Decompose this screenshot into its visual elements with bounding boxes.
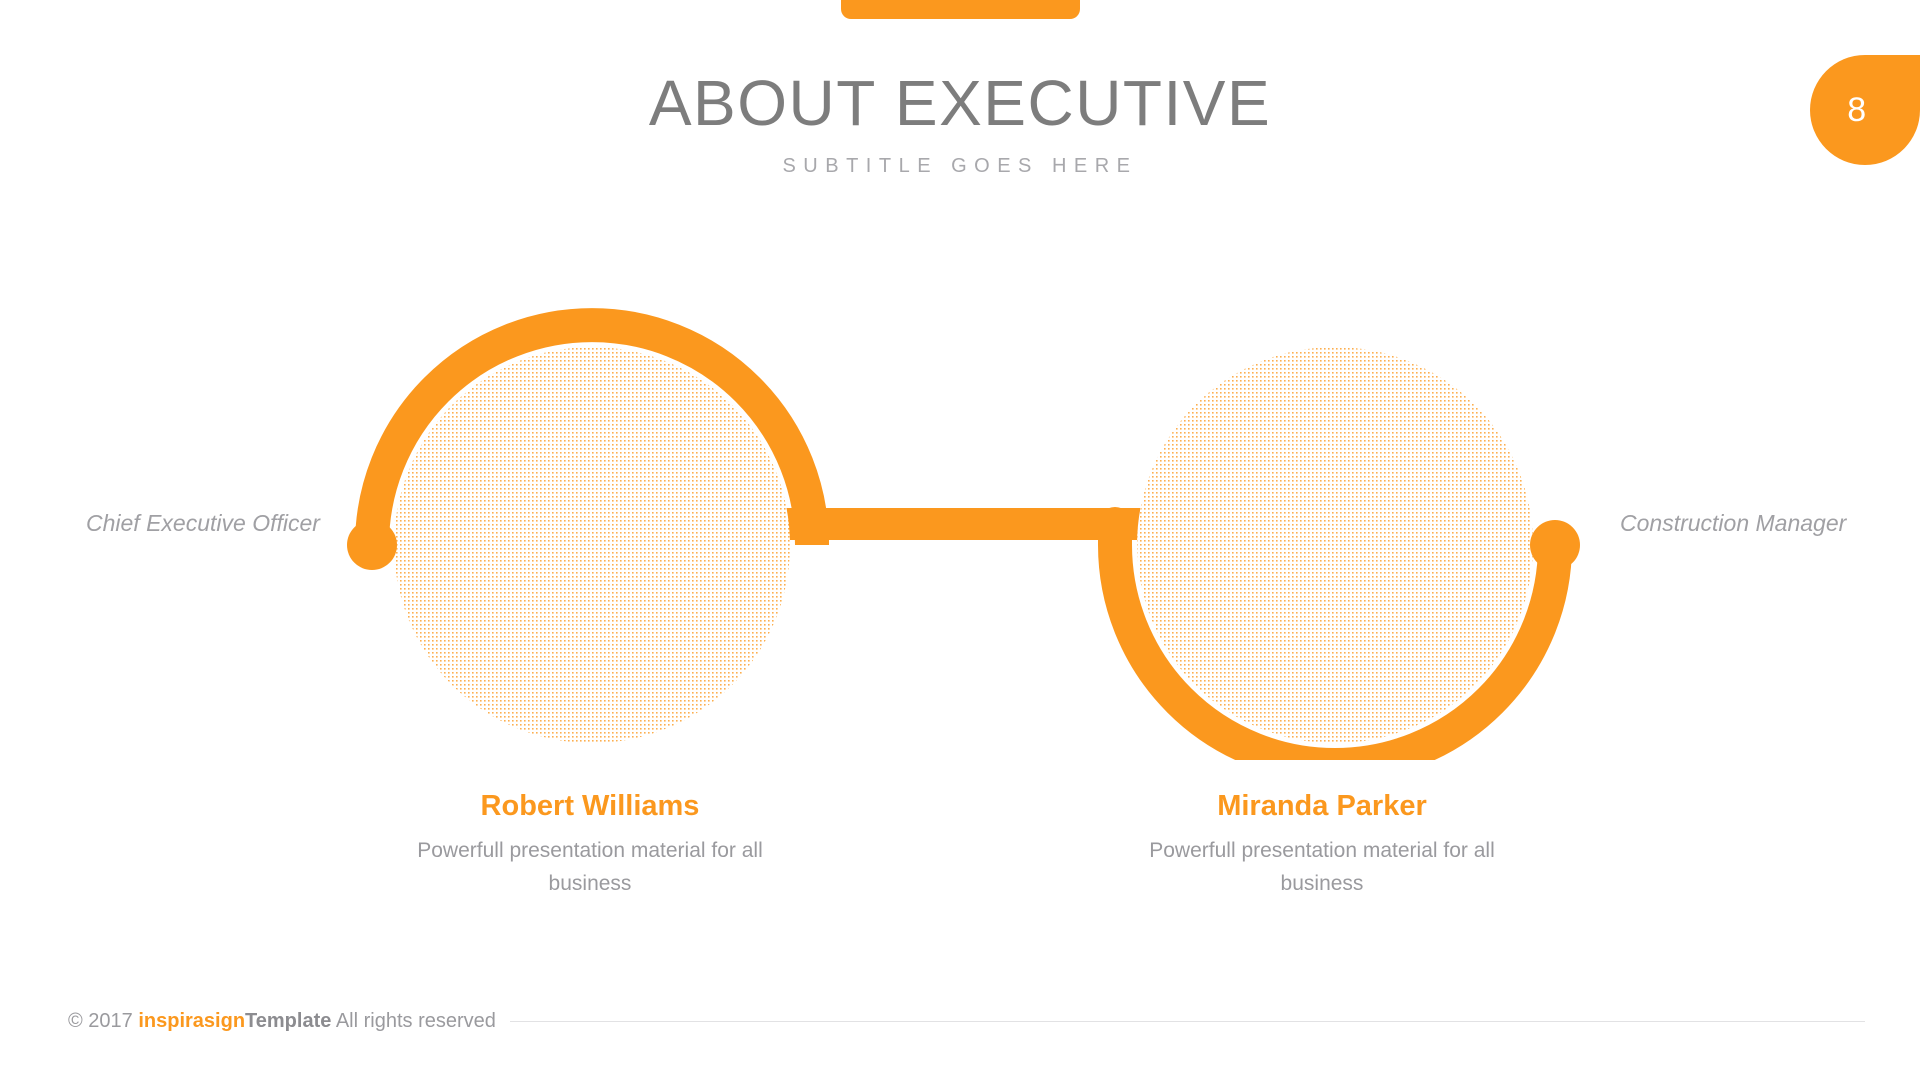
- person-name-right: Miranda Parker: [1092, 790, 1552, 823]
- person-description-right: Powerfull presentation material for all …: [1092, 835, 1552, 900]
- person-name-left: Robert Williams: [360, 790, 820, 823]
- footer-divider: [510, 1021, 1865, 1022]
- footer-brand-suffix: Template: [245, 1010, 331, 1032]
- top-accent-tab: [841, 0, 1080, 19]
- left-arc-cap-knob: [347, 520, 397, 570]
- footer-rights: All rights reserved: [331, 1010, 496, 1032]
- right-avatar-dotted-disc: [1137, 347, 1533, 743]
- connector-bar: [780, 508, 1140, 540]
- person-description-left: Powerfull presentation material for all …: [360, 835, 820, 900]
- role-label-left: Chief Executive Officer: [86, 510, 320, 537]
- slide-header: ABOUT EXECUTIVE SUBTITLE GOES HERE: [0, 70, 1920, 178]
- page-title: ABOUT EXECUTIVE: [0, 70, 1920, 137]
- slide-footer: © 2017 inspirasignTemplate All rights re…: [68, 1006, 1865, 1036]
- left-avatar-dotted-disc: [394, 347, 790, 743]
- role-label-right: Construction Manager: [1620, 510, 1846, 537]
- person-right-graphic: [1115, 347, 1580, 760]
- person-card-left: Robert Williams Powerfull presentation m…: [360, 790, 820, 900]
- slide-about-executive: 8 ABOUT EXECUTIVE SUBTITLE GOES HERE: [0, 0, 1920, 1080]
- footer-brand: inspirasign: [138, 1010, 245, 1032]
- person-card-right: Miranda Parker Powerfull presentation ma…: [1092, 790, 1552, 900]
- right-arc-cap-knob: [1530, 520, 1580, 570]
- person-left-graphic: [347, 325, 812, 743]
- footer-credit: © 2017 inspirasignTemplate All rights re…: [68, 1010, 496, 1033]
- footer-copyright: © 2017: [68, 1010, 138, 1032]
- page-subtitle: SUBTITLE GOES HERE: [0, 155, 1920, 178]
